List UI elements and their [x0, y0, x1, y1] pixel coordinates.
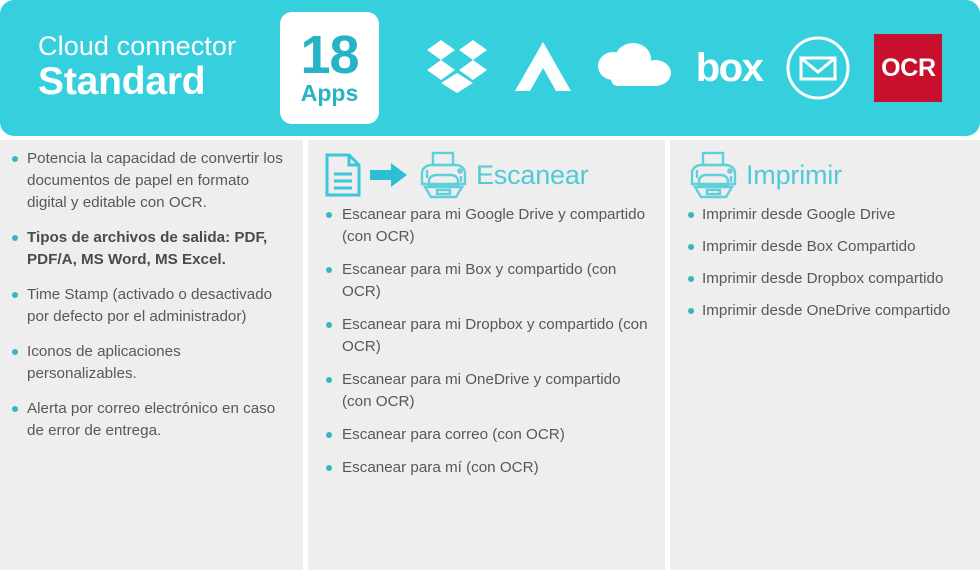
- ocr-badge-icon: OCR: [874, 34, 942, 102]
- header-banner: Cloud connector Standard 18 Apps: [0, 0, 980, 136]
- list-item: Alerta por correo electrónico en caso de…: [10, 398, 289, 442]
- list-item: Escanear para correo (con OCR): [324, 424, 651, 446]
- feature-columns: Potencia la capacidad de convertir los d…: [0, 140, 980, 570]
- printer-icon: [686, 151, 738, 199]
- onedrive-cloud-icon: [597, 42, 673, 94]
- list-item: Escanear para mi Google Drive y comparti…: [324, 204, 651, 248]
- brand-block: Cloud connector Standard: [0, 32, 268, 103]
- scan-section-header: Escanear: [324, 146, 651, 204]
- print-section-title: Imprimir: [746, 160, 842, 191]
- ocr-badge-wrapper: OCR: [874, 34, 942, 102]
- list-item: Potencia la capacidad de convertir los d…: [10, 148, 289, 214]
- document-icon: [324, 152, 362, 198]
- google-drive-icon: [512, 39, 574, 97]
- box-icon: box: [696, 48, 763, 88]
- list-item: Imprimir desde Google Drive: [686, 204, 968, 226]
- apps-count-label: Apps: [301, 82, 359, 105]
- features-list: Potencia la capacidad de convertir los d…: [10, 148, 289, 442]
- list-item: Tipos de archivos de salida: PDF, PDF/A,…: [10, 227, 289, 271]
- list-item: Escanear para mi OneDrive y compartido (…: [324, 369, 651, 413]
- cloud-connector-feature-sheet: Cloud connector Standard 18 Apps: [0, 0, 980, 570]
- list-item: Escanear para mi Box y compartido (con O…: [324, 259, 651, 303]
- brand-title-line2: Standard: [38, 61, 268, 104]
- scan-section-title: Escanear: [476, 160, 588, 191]
- list-item: Iconos de aplicaciones personalizables.: [10, 341, 289, 385]
- dropbox-icon: [425, 38, 489, 98]
- app-logo-strip: box OCR: [379, 0, 980, 136]
- printer-icon: [416, 151, 468, 199]
- print-list: Imprimir desde Google Drive Imprimir des…: [686, 204, 968, 322]
- print-section-header: Imprimir: [686, 146, 968, 204]
- scan-list: Escanear para mi Google Drive y comparti…: [324, 204, 651, 479]
- brand-title-line1: Cloud connector: [38, 32, 268, 60]
- column-features: Potencia la capacidad de convertir los d…: [0, 140, 303, 570]
- list-item: Imprimir desde OneDrive compartido: [686, 300, 968, 322]
- apps-count-badge: 18 Apps: [280, 12, 379, 124]
- column-print: Imprimir Imprimir desde Google Drive Imp…: [670, 140, 980, 570]
- apps-count-value: 18: [300, 31, 358, 81]
- list-item: Time Stamp (activado o desactivado por d…: [10, 284, 289, 328]
- list-item: Imprimir desde Box Compartido: [686, 236, 968, 258]
- column-scan: Escanear Escanear para mi Google Drive y…: [308, 140, 665, 570]
- email-envelope-icon: [785, 35, 851, 101]
- ocr-badge-label: OCR: [881, 54, 936, 83]
- arrow-right-icon: [370, 160, 408, 190]
- list-item: Imprimir desde Dropbox compartido: [686, 268, 968, 290]
- list-item: Escanear para mi Dropbox y compartido (c…: [324, 314, 651, 358]
- box-wordmark: box: [696, 48, 763, 88]
- list-item: Escanear para mí (con OCR): [324, 457, 651, 479]
